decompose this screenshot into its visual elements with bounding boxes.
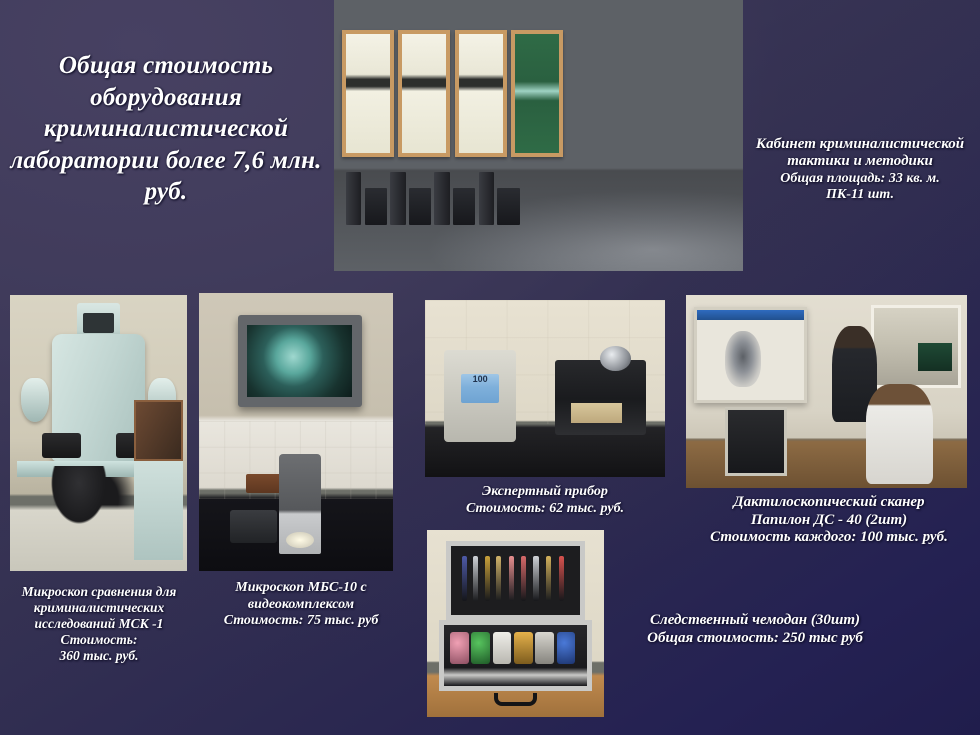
illuminator-lamp [230, 510, 277, 543]
computer-row [346, 165, 600, 225]
side-cabinet [134, 461, 184, 560]
tool [521, 556, 526, 601]
mbs-microscope-caption: Микроскоп МБС-10 с видеокомплексом Стоим… [201, 580, 401, 630]
classroom-photo [334, 0, 743, 271]
monitor [390, 172, 405, 224]
case-item [450, 632, 468, 664]
case-item [557, 632, 575, 664]
fingerprint-scanner-photo [686, 295, 967, 488]
side-monitor [134, 400, 184, 461]
investigation-case-caption: Следственный чемодан (30шт) Общая стоимо… [610, 612, 900, 647]
display-case [511, 30, 563, 157]
tool [496, 556, 501, 601]
display-case [398, 30, 450, 157]
presentation-slide: Общая стоимость оборудования криминалист… [0, 0, 980, 735]
case-base [439, 620, 591, 691]
case-item [514, 632, 532, 664]
case-item [471, 632, 489, 664]
case-lid [446, 541, 584, 620]
tower [365, 188, 388, 225]
monitor [346, 172, 361, 224]
expert-device-caption: Экспертный прибор Стоимость: 62 тыс. руб… [425, 484, 665, 517]
classroom-caption-details: Общая площадь: 33 кв. м. ПК-11 шт. [744, 171, 976, 203]
office-chair [49, 466, 109, 527]
classroom-caption-heading: Кабинет криминалистической тактики и мет… [756, 136, 964, 170]
workstation-monitor [725, 407, 787, 476]
mbs-microscope-photo [199, 293, 393, 571]
classroom-caption: Кабинет криминалистической тактики и мет… [744, 118, 976, 221]
display-case [455, 30, 507, 157]
monitor [434, 172, 449, 224]
tool [533, 556, 538, 601]
microscope-stage-left [42, 433, 81, 458]
magnifier-lens [600, 346, 631, 371]
tower [497, 188, 520, 225]
seated-operator [866, 384, 933, 484]
scanner-device-inset [871, 305, 961, 388]
monitor [479, 172, 494, 224]
tower [453, 188, 476, 225]
fingerprint-scanner-caption: Дактилоскопический сканер Папилон ДС - 4… [688, 494, 970, 547]
wall-tv-screen [238, 315, 362, 407]
wall-display-cases [342, 30, 563, 157]
comparison-microscope-caption: Микроскоп сравнения для криминалистическ… [4, 584, 194, 664]
tool [509, 556, 514, 601]
case-item [493, 632, 511, 664]
investigation-case-photo [427, 530, 604, 717]
case-handle [494, 693, 536, 706]
tool [473, 556, 478, 601]
fingerprint-display-monitor [694, 307, 806, 404]
display-case [342, 30, 394, 157]
tool [485, 556, 490, 601]
crt-monitor: 100 [444, 350, 516, 442]
comparison-microscope-photo [10, 295, 187, 571]
page-title: Общая стоимость оборудования криминалист… [8, 50, 324, 208]
stereo-microscope [279, 454, 322, 554]
inspection-device [555, 360, 646, 434]
tower [409, 188, 432, 225]
tv-screen-image [247, 325, 352, 397]
crt-screen-value: 100 [461, 374, 499, 404]
tool [462, 556, 467, 601]
tool [559, 556, 564, 601]
tool [546, 556, 551, 601]
case-item [535, 632, 553, 664]
expert-device-photo: 100 [425, 300, 665, 477]
microscope-objective-left [21, 378, 49, 422]
